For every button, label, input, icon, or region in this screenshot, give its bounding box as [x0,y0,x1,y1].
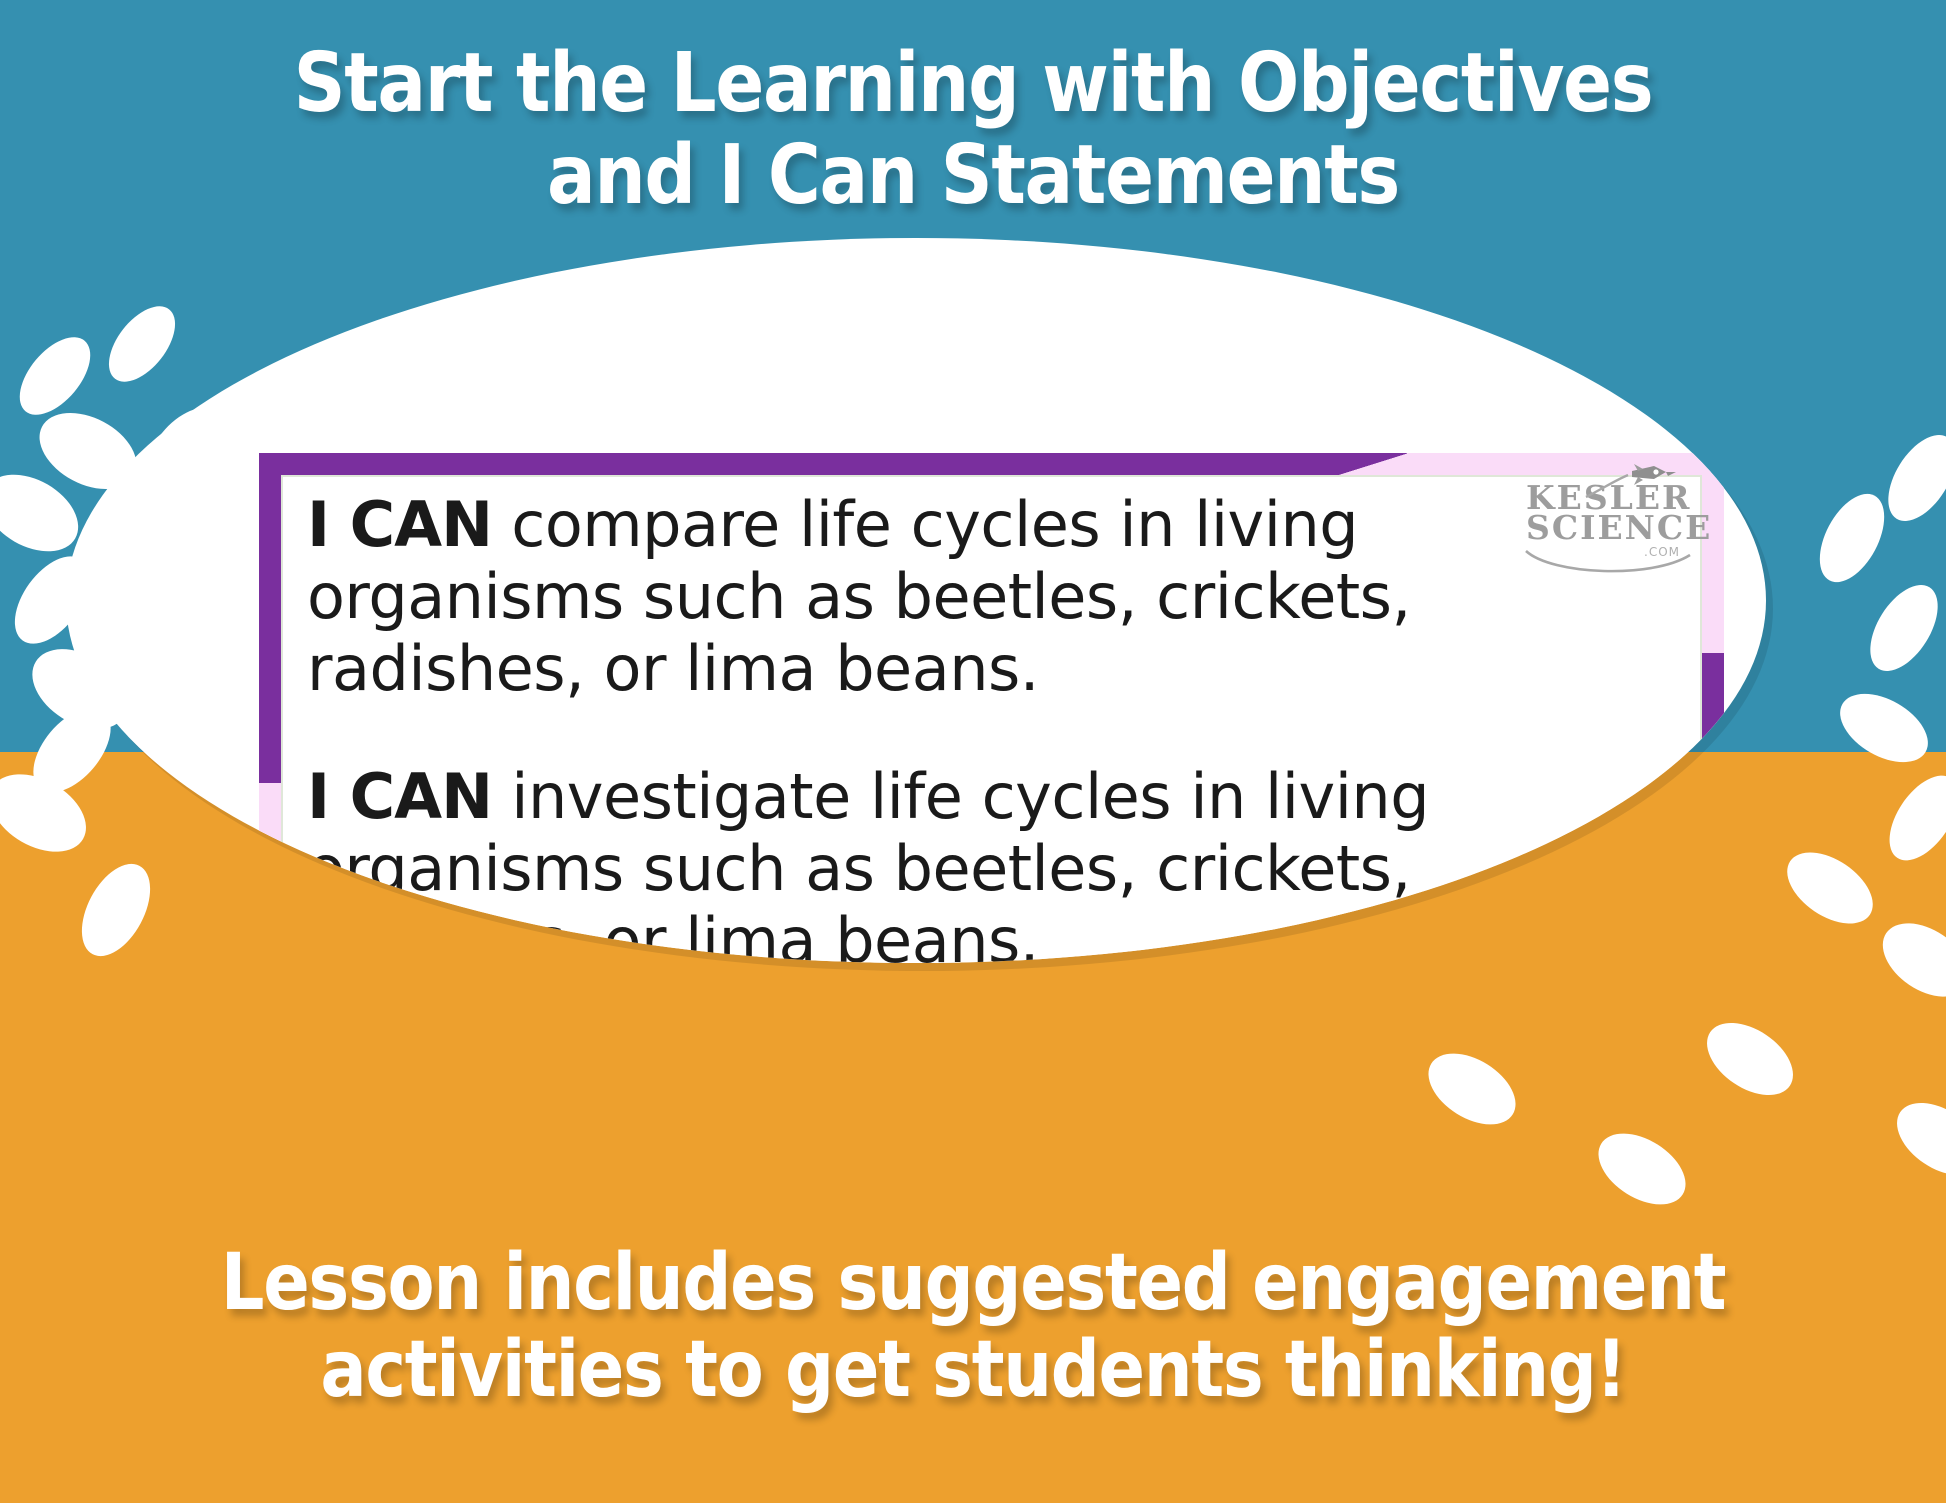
page-title: Start the Learning with Objectives and I… [117,38,1829,222]
card-border-top-wedge [1339,453,1409,475]
i-can-card: KESLER SCIENCE .COM I CAN compare life c… [259,453,1724,963]
card-border-right-purple [1702,653,1724,963]
i-can-label: I CAN [307,760,492,833]
content-ellipse: KESLER SCIENCE .COM I CAN compare life c… [66,238,1766,963]
card-border-top-pink [1407,453,1724,475]
footer-caption-line-2: activities to get students thinking! [117,1327,1829,1414]
i-can-statement: I CAN investigate life cycles in living … [307,761,1617,963]
card-border-top-purple [259,453,1374,475]
card-border-right-pink [1702,475,1724,653]
i-can-label: I CAN [307,488,492,561]
footer-caption-line-1: Lesson includes suggested engagement [117,1240,1829,1327]
footer-caption: Lesson includes suggested engagement act… [117,1240,1829,1415]
card-border-left-purple [259,453,281,783]
card-border-left-pink [259,783,281,963]
i-can-statements-list: I CAN compare life cycles in living orga… [307,489,1617,963]
i-can-statement: I CAN compare life cycles in living orga… [307,489,1617,705]
slide-canvas: KESLER SCIENCE .COM I CAN compare life c… [0,0,1946,1503]
page-title-line-2: and I Can Statements [117,130,1829,222]
page-title-line-1: Start the Learning with Objectives [117,38,1829,130]
